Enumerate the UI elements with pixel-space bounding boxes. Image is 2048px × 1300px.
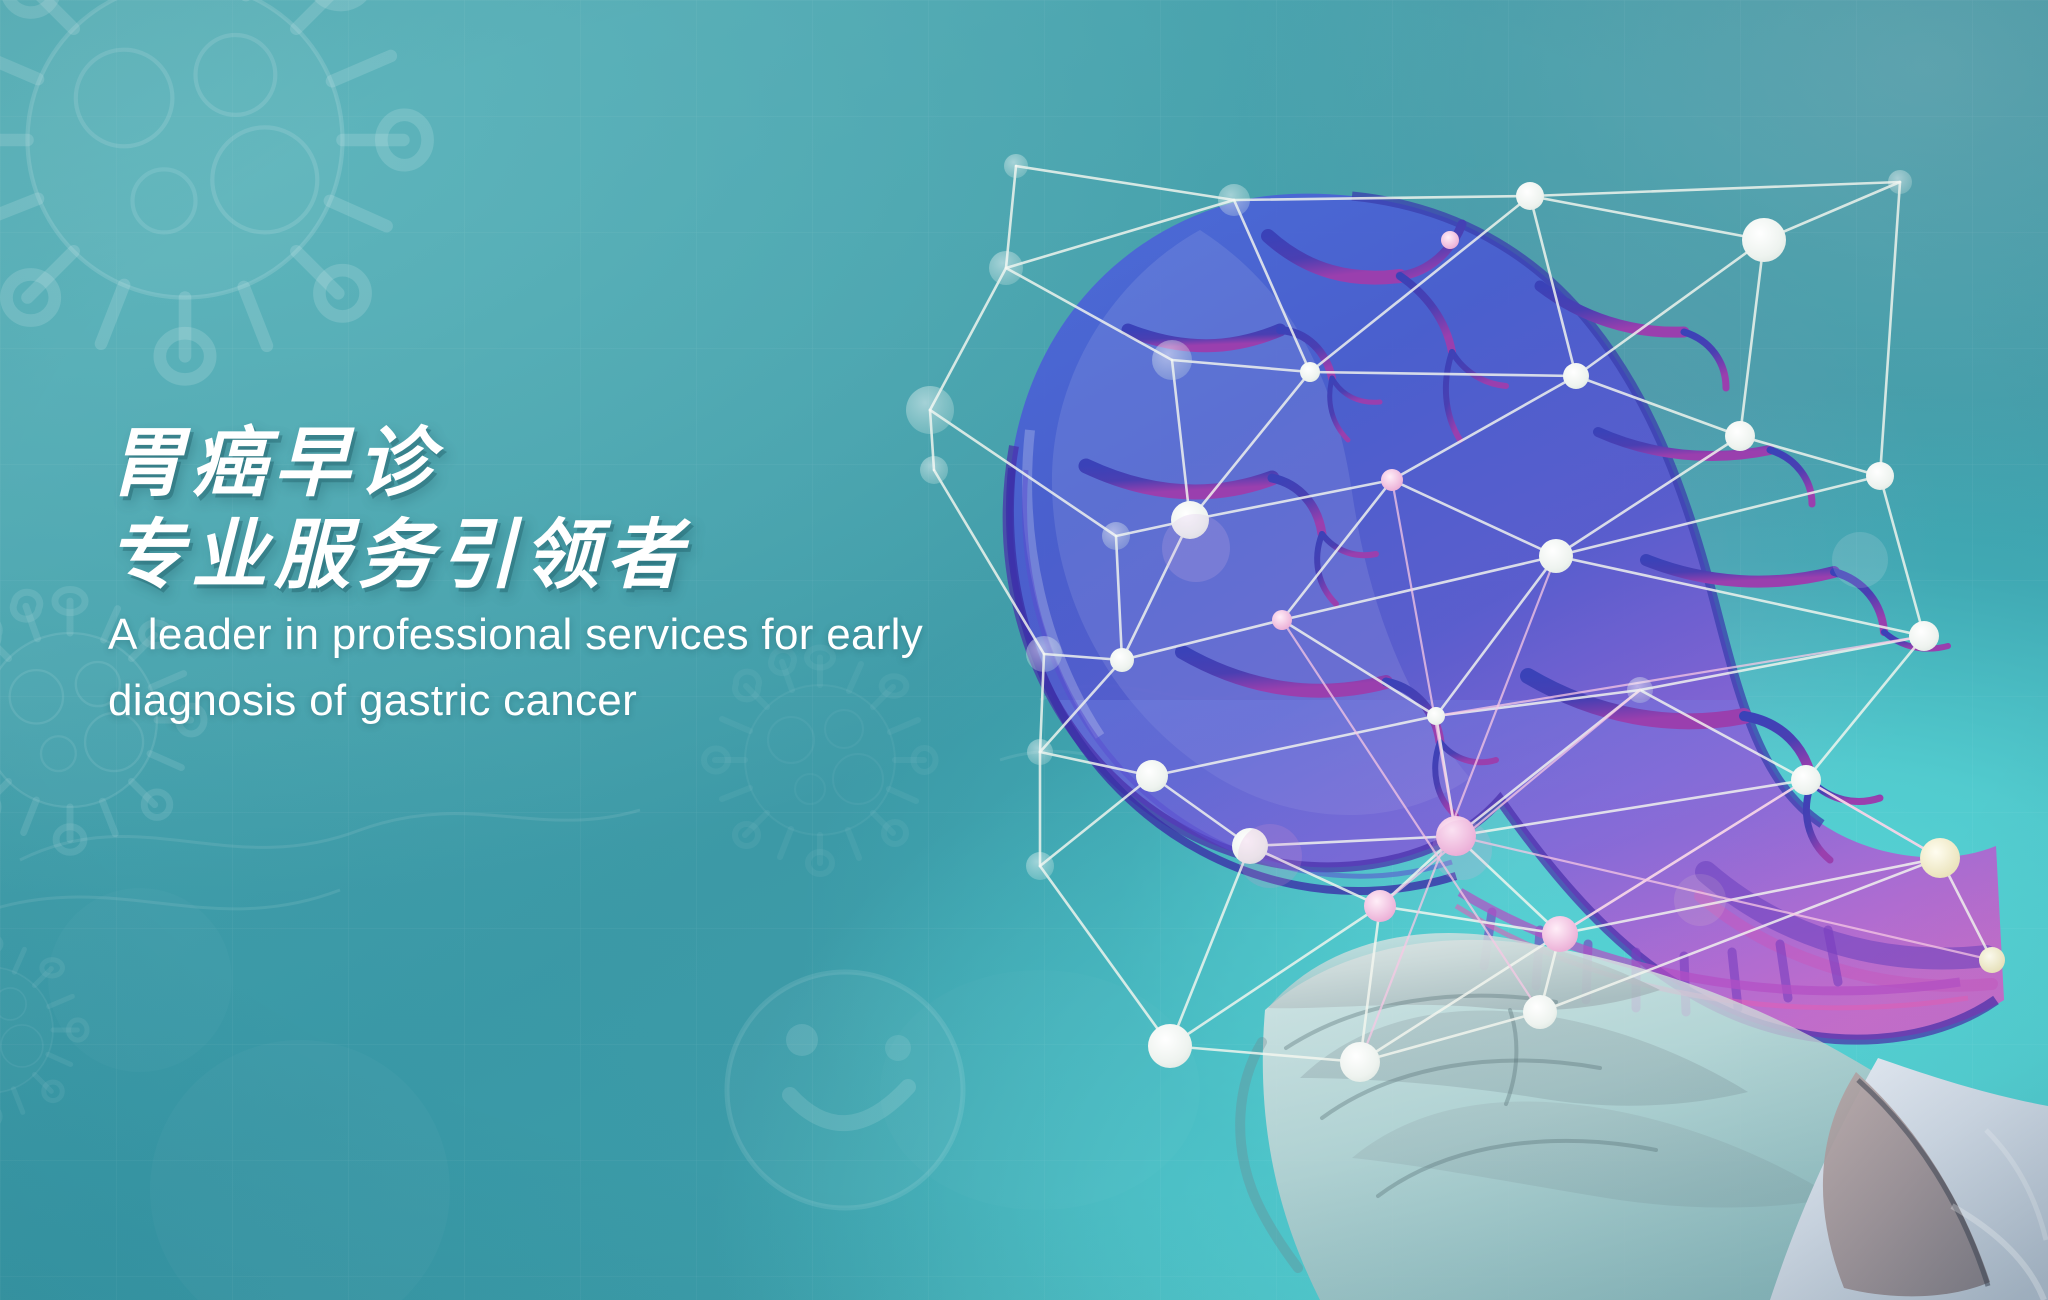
banner-hero: 胃癌早诊 专业服务引领者 A leader in professional se… — [0, 0, 2048, 1300]
vignette-overlay — [0, 0, 2048, 1300]
